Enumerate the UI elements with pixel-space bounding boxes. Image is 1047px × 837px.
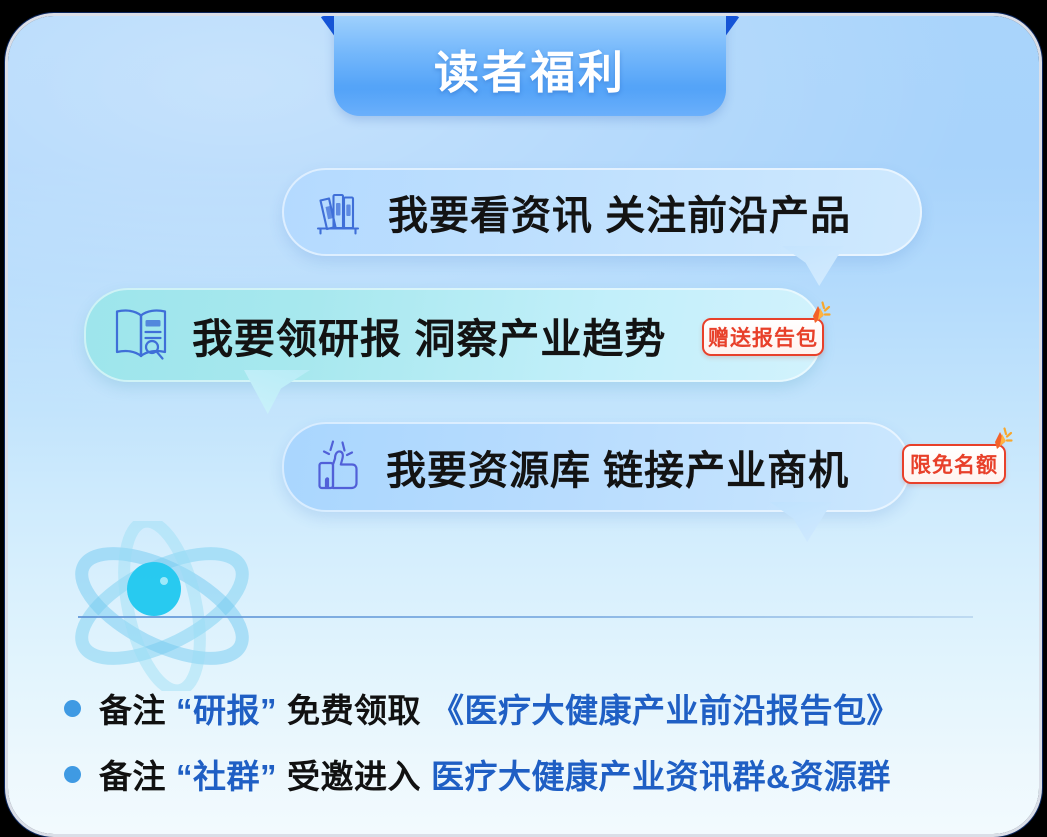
banner-ribbon: 读者福利: [320, 16, 740, 124]
badge-limited-quota[interactable]: 限免名额: [902, 444, 1006, 484]
benefit-row-resource[interactable]: 我要资源库 链接产业商机: [282, 422, 910, 512]
atom-decoration-icon: [42, 521, 282, 691]
note-keyword: “社群”: [176, 758, 277, 795]
badge-gift-report[interactable]: 赠送报告包: [702, 318, 824, 356]
open-book-icon: [104, 297, 180, 373]
note-middle: 受邀进入: [287, 758, 421, 795]
books-icon: [304, 178, 372, 246]
note-keyword: “研报”: [176, 692, 277, 729]
note-text-report: 备注“研报”免费领取《医疗大健康产业前沿报告包》: [99, 684, 900, 732]
benefit-row-news[interactable]: 我要看资讯 关注前沿产品: [282, 168, 922, 256]
sparkle-icon: [980, 426, 1014, 460]
benefit-label-resource: 我要资源库 链接产业商机: [386, 438, 849, 496]
note-link: 医疗大健康产业资讯群&资源群: [431, 758, 891, 795]
note-link: 《医疗大健康产业前沿报告包》: [431, 692, 900, 729]
note-prefix: 备注: [99, 758, 166, 795]
bubble-tail: [782, 246, 844, 286]
benefit-label-news: 我要看资讯 关注前沿产品: [388, 183, 851, 241]
thumbs-up-icon: [304, 433, 372, 501]
bullet-dot-icon: [64, 700, 81, 717]
note-middle: 免费领取: [287, 692, 421, 729]
note-row-community: 备注“社群”受邀进入医疗大健康产业资讯群&资源群: [64, 750, 891, 798]
bullet-dot-icon: [64, 766, 81, 783]
note-prefix: 备注: [99, 692, 166, 729]
page-root: 读者福利 我要看资讯 关注前沿产品: [0, 0, 1047, 837]
note-text-community: 备注“社群”受邀进入医疗大健康产业资讯群&资源群: [99, 750, 891, 798]
bubble-tail: [244, 370, 310, 414]
banner-title: 读者福利: [320, 36, 740, 101]
benefit-label-report: 我要领研报 洞察产业趋势: [192, 305, 666, 365]
sparkle-icon: [798, 300, 832, 334]
section-divider: [78, 616, 973, 618]
bubble-tail: [770, 502, 832, 542]
note-row-report: 备注“研报”免费领取《医疗大健康产业前沿报告包》: [64, 684, 900, 732]
promo-card: 读者福利 我要看资讯 关注前沿产品: [8, 16, 1039, 834]
